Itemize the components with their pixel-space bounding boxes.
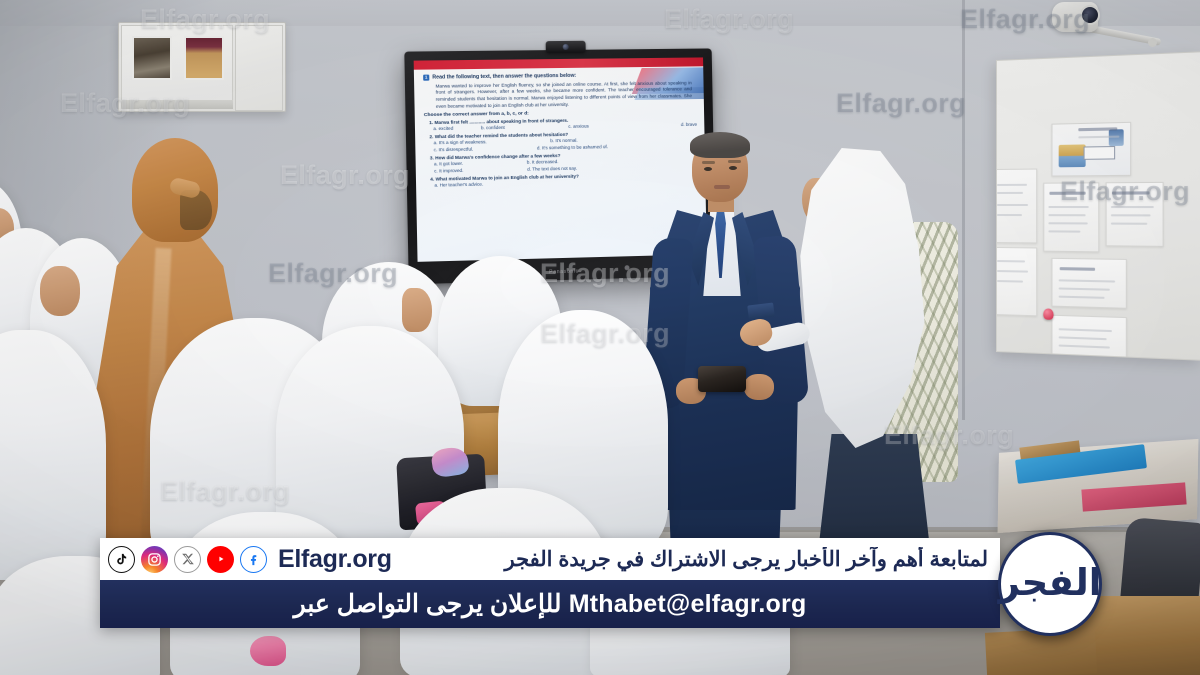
question-number: 1.: [429, 120, 433, 125]
option-c[interactable]: c. anxious: [568, 123, 589, 130]
poster-label-box: [1084, 146, 1116, 160]
option-d[interactable]: d. The text does not say.: [527, 165, 577, 173]
banner-contact-line: Mthabet@elfagr.org للإعلان يرجى التواصل …: [294, 589, 807, 619]
option-a[interactable]: a. excited: [433, 126, 453, 133]
notice-paper: [1051, 315, 1126, 361]
bulletin-board: [996, 51, 1200, 361]
eyebrow-left: [702, 161, 715, 164]
banner-contact-text: للإعلان يرجى التواصل عبر: [294, 590, 562, 618]
standing-woman-white-hijab: [786, 148, 970, 568]
eye-right: [729, 166, 737, 170]
instagram-icon[interactable]: [141, 546, 168, 573]
elfagr-logo-text: الفجر: [1005, 539, 1095, 629]
mouth: [714, 185, 730, 189]
banner-top-row: Elfagr.org لمتابعة أهم وآخر الأخبار يرجى…: [100, 538, 1000, 580]
option-c[interactable]: c. It's disrespectful.: [434, 146, 474, 153]
eye-left: [704, 167, 712, 171]
pushpin-icon: [1043, 308, 1053, 319]
webcam-icon: [546, 41, 586, 53]
notice-paper: [1106, 182, 1164, 247]
hand-right: [744, 374, 774, 400]
facebook-icon[interactable]: [240, 546, 267, 573]
reading-passage: Marwa wanted to improve her English flue…: [423, 80, 698, 110]
notice-poster-logo: [1051, 122, 1131, 177]
question-number: 4.: [430, 176, 434, 181]
ministry-crest-icon: [1059, 144, 1086, 167]
option-a[interactable]: a. Her teacher's advice.: [434, 182, 483, 190]
camera-lens-icon: [1080, 5, 1100, 25]
cabinet-door: [121, 25, 233, 101]
notice-paper: [996, 169, 1037, 244]
question-number: 3.: [430, 155, 434, 160]
student-face: [402, 288, 432, 332]
option-d[interactable]: d. It's something to be ashamed of.: [537, 144, 608, 152]
brand-url[interactable]: Elfagr.org: [278, 545, 392, 574]
banner-bottom-row: Mthabet@elfagr.org للإعلان يرجى التواصل …: [100, 580, 1000, 628]
pink-accessory: [250, 636, 286, 666]
camera-ceiling-mount: [1148, 38, 1157, 47]
notice-paper: [996, 247, 1037, 316]
banner-subscribe-text: لمتابعة أهم وآخر الأخبار يرجى الاشتراك ف…: [406, 547, 992, 572]
question-number-badge: 1: [423, 75, 429, 81]
x-twitter-icon[interactable]: [174, 546, 201, 573]
display-power-led: [624, 265, 629, 270]
notice-paper: [1043, 182, 1099, 252]
hair: [690, 132, 750, 158]
tiktok-icon[interactable]: [108, 546, 135, 573]
mobile-phone-icon: [698, 366, 746, 392]
question-number: 2.: [429, 134, 433, 139]
cabinet-glass-pane-left: [132, 36, 172, 80]
student-face: [40, 266, 80, 316]
option-b[interactable]: b. confident: [481, 125, 505, 132]
elfagr-logo-badge[interactable]: الفجر: [998, 532, 1102, 636]
slide-heading: Read the following text, then answer the…: [432, 73, 576, 81]
cabinet-base-strip: [121, 100, 233, 109]
option-c[interactable]: c. It improved.: [434, 168, 463, 175]
eyebrow-right: [728, 160, 741, 163]
contact-email[interactable]: Mthabet@elfagr.org: [569, 590, 807, 618]
screenshot-root: 1 Read the following text, then answer t…: [0, 0, 1200, 675]
wall-cabinet: [118, 22, 286, 112]
youtube-icon[interactable]: [207, 546, 234, 573]
cabinet-side-panel: [235, 25, 283, 111]
display-brand-label: Panasonic: [549, 269, 579, 276]
cabinet-glass-pane-right: [184, 36, 224, 80]
notice-paper: [1051, 258, 1126, 309]
advertisement-banner: Elfagr.org لمتابعة أهم وآخر الأخبار يرجى…: [100, 538, 1100, 628]
